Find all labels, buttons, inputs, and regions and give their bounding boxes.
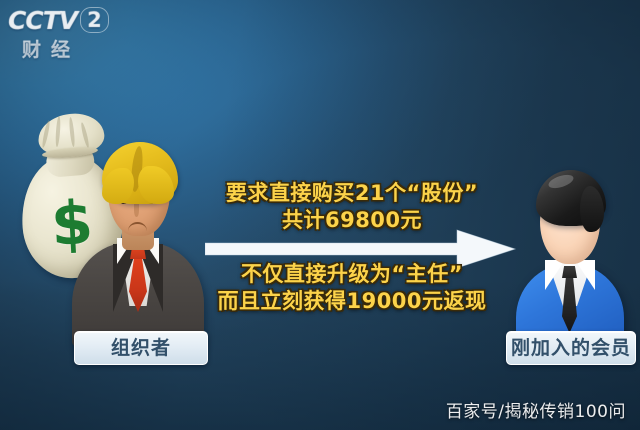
callout-bottom: 不仅直接升级为“主任” 而且立刻获得19000元返现 (207, 261, 497, 315)
new-member-collar-right (575, 260, 595, 290)
channel-number: 2 (80, 7, 109, 33)
callout-bottom-line-2: 而且立刻获得19000元返现 (207, 288, 497, 315)
organizer-nose (134, 204, 139, 217)
source-watermark: 百家号/揭秘传销100问 (446, 397, 626, 422)
channel-logo: CCTV2 财经 (6, 4, 126, 66)
channel-subtitle: 财经 (22, 35, 80, 62)
callout-top: 要求直接购买21个“股份” 共计69800元 (207, 180, 497, 234)
cctv-wordmark: CCTV2 (8, 6, 109, 35)
callout-bottom-line-1: 不仅直接升级为“主任” (207, 261, 497, 288)
new-member-label-plate: 刚加入的会员 (506, 331, 636, 365)
cctv-letters: CCTV (8, 6, 77, 35)
callout-top-line-2: 共计69800元 (207, 207, 497, 234)
callout-top-line-1: 要求直接购买21个“股份” (207, 180, 497, 207)
new-member-figure (512, 168, 628, 346)
broadcast-screenshot: CCTV2 财经 $ (0, 0, 640, 430)
organizer-figure (72, 138, 204, 348)
organizer-label-plate: 组织者 (74, 331, 208, 365)
new-member-collar-left (545, 260, 565, 290)
new-member-tie-knot (562, 266, 577, 278)
